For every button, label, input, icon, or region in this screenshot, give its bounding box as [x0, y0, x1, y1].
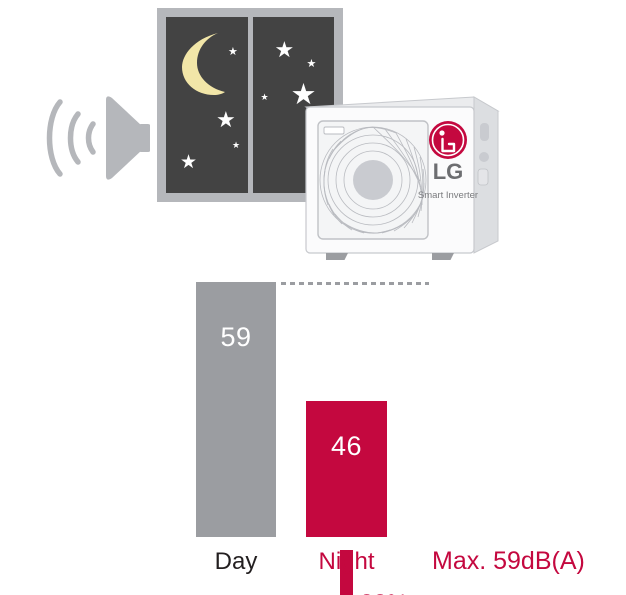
axis-label-night: Night [301, 548, 392, 576]
star-icon: ★ [275, 39, 295, 61]
star-icon: ★ [228, 47, 238, 58]
lg-logo-icon: LG [429, 121, 467, 184]
axis-label-day: Day [196, 548, 276, 576]
bar-day: 59 [196, 282, 276, 537]
bar-night-value: 46 [331, 431, 362, 537]
star-icon: ★ [261, 93, 269, 102]
star-icon: ★ [307, 59, 317, 70]
max-reference-label: Max. 59dB(A) [432, 547, 585, 576]
reduction-percent-label: 22% [360, 590, 408, 595]
lg-outdoor-ac-unit-icon: LG Smart Inverter [290, 95, 506, 260]
bar-day-value: 59 [220, 322, 251, 537]
star-icon: ★ [180, 153, 197, 172]
ac-model-text: Smart Inverter [418, 190, 478, 201]
max-reference-line [281, 282, 429, 285]
window-pane-left: ★ ★ ★ ★ [166, 17, 248, 193]
svg-text:LG: LG [433, 159, 464, 184]
noise-bar-chart: Max. 59dB(A) 59 46 22% Day Night [0, 260, 626, 595]
noise-comparison-infographic: ★ ★ ★ ★ ★ ★ ★ ★ [0, 0, 626, 595]
star-icon: ★ [232, 141, 240, 150]
star-icon: ★ [216, 109, 236, 131]
speaker-sound-waves-icon [38, 88, 150, 188]
crescent-moon-icon [180, 31, 226, 102]
bar-night: 46 [306, 401, 387, 537]
